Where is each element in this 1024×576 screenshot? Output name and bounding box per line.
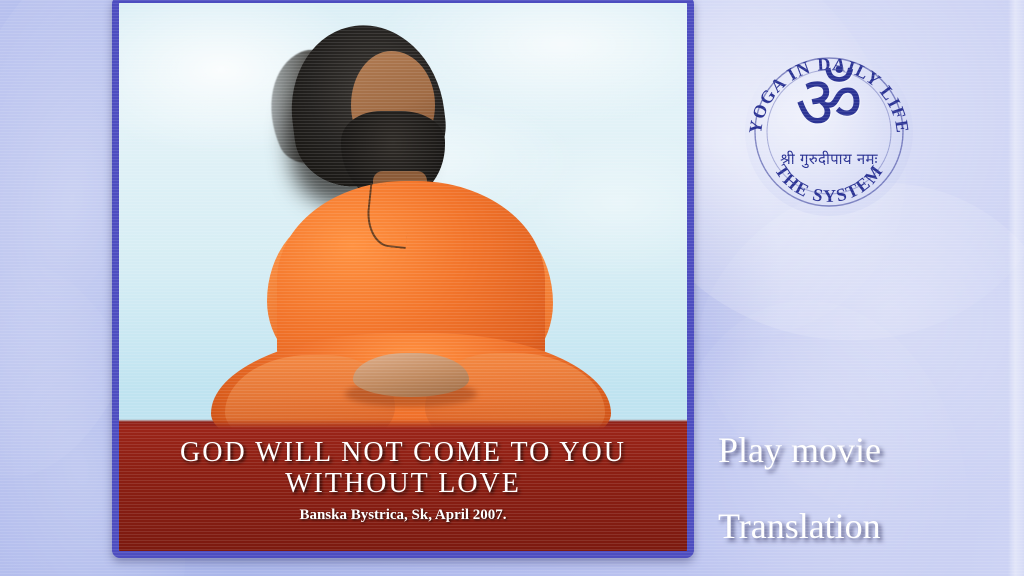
caption-location-date: Banska Bystrica, Sk, April 2007. (119, 507, 687, 524)
hands-in-lap (353, 353, 469, 397)
om-symbol-icon: ॐ (745, 66, 913, 140)
photo-frame: GOD WILL NOT COME TO YOU WITHOUT LOVE Ba… (112, 0, 694, 558)
dvd-menu-list: Play movie Translation (718, 432, 881, 576)
caption-line-1: GOD WILL NOT COME TO YOU (119, 437, 687, 468)
photo-caption-band: GOD WILL NOT COME TO YOU WITHOUT LOVE Ba… (119, 429, 687, 551)
logo-sanskrit-mantra: श्री गुरुदीपाय नमः (745, 149, 913, 169)
yoga-in-daily-life-logo: YOGA IN DAILY LIFE THE SYSTEM ॐ श्री गुर… (745, 48, 913, 216)
menu-item-play-movie[interactable]: Play movie (718, 432, 881, 468)
right-edge-highlight (1008, 0, 1024, 576)
caption-line-2: WITHOUT LOVE (119, 468, 687, 499)
menu-item-translation[interactable]: Translation (718, 508, 881, 544)
swami-photo: GOD WILL NOT COME TO YOU WITHOUT LOVE Ba… (119, 3, 687, 551)
dvd-menu-screen: GOD WILL NOT COME TO YOU WITHOUT LOVE Ba… (0, 0, 1024, 576)
